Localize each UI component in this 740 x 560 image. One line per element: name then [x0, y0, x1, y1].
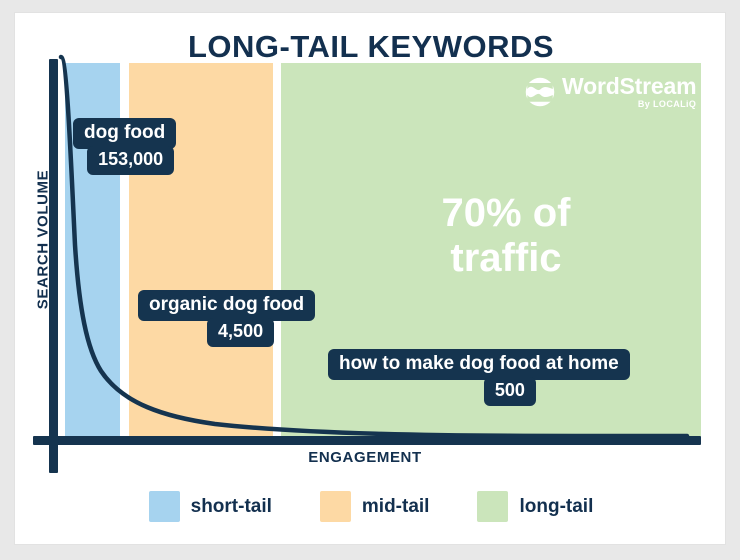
legend-label-mid-tail: mid-tail: [362, 496, 430, 518]
annotation-how-to-make-dog-food-at-home: how to make dog food at home 500: [328, 349, 630, 406]
annotation-keyword-label: organic dog food: [138, 290, 315, 321]
annotation-organic-dog-food: organic dog food 4,500: [138, 290, 315, 347]
y-axis-title: SEARCH VOLUME: [35, 150, 52, 330]
annotation-volume-label: 153,000: [87, 146, 174, 175]
wordstream-logo: WordStream By LOCALiQ: [525, 75, 696, 109]
chart-plot-area: SEARCH VOLUME ENGAGEMENT 70% of traffic …: [15, 13, 726, 545]
traffic-callout-line2: traffic: [391, 236, 621, 281]
traffic-callout: 70% of traffic: [391, 191, 621, 281]
wordstream-wave-icon: [525, 77, 555, 107]
legend: short-tail mid-tail long-tail: [15, 491, 726, 522]
legend-swatch-short-tail: [149, 491, 180, 522]
logo-byline-by: By: [638, 99, 650, 109]
annotation-volume-label: 4,500: [207, 318, 274, 347]
legend-item-long-tail[interactable]: long-tail: [477, 491, 593, 522]
legend-item-mid-tail[interactable]: mid-tail: [320, 491, 430, 522]
annotation-keyword-label: how to make dog food at home: [328, 349, 630, 380]
annotation-dog-food: dog food 153,000: [73, 118, 176, 175]
legend-swatch-mid-tail: [320, 491, 351, 522]
traffic-callout-line1: 70% of: [391, 191, 621, 236]
annotation-volume-label: 500: [484, 377, 536, 406]
legend-item-short-tail[interactable]: short-tail: [149, 491, 272, 522]
logo-byline: By LOCALiQ: [638, 100, 697, 109]
legend-swatch-long-tail: [477, 491, 508, 522]
legend-label-short-tail: short-tail: [191, 496, 272, 518]
legend-label-long-tail: long-tail: [519, 496, 593, 518]
logo-byline-parent: LOCALiQ: [653, 99, 696, 109]
logo-wordmark: WordStream: [562, 75, 696, 98]
x-axis-title: ENGAGEMENT: [195, 449, 535, 466]
annotation-keyword-label: dog food: [73, 118, 176, 149]
chart-card: LONG-TAIL KEYWORDS SEARCH VOLUME ENGAGEM…: [14, 12, 726, 545]
